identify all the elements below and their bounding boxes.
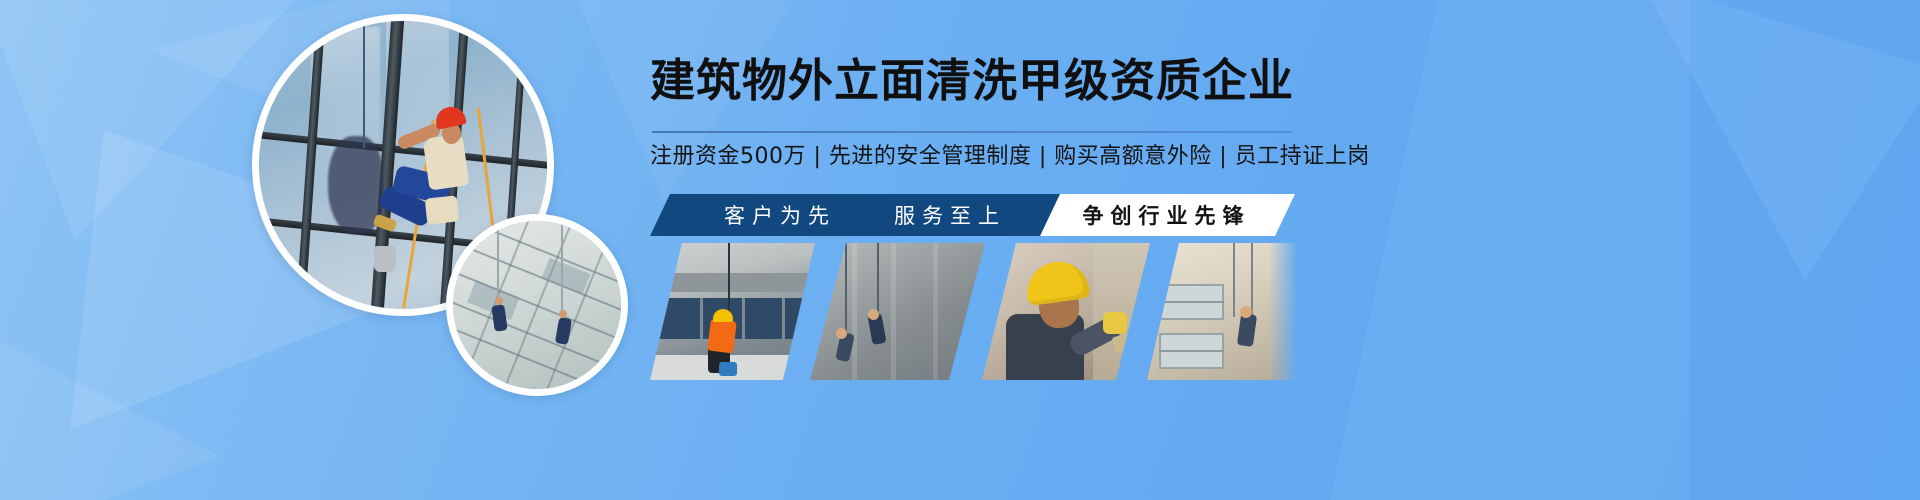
worker-rope [845, 243, 847, 339]
building-roofline [650, 273, 815, 292]
slogan-bar: 客户为先 服务至上 争创行业先锋 [650, 194, 1295, 236]
photo-panel-3 [982, 243, 1150, 380]
wall-streak [852, 243, 857, 380]
close-up-worker-scene [982, 243, 1150, 380]
paint-pail [719, 362, 737, 376]
worker-safety-vest [708, 318, 738, 353]
banner-headline: 建筑物外立面清洗甲级资质企业 [650, 52, 1295, 110]
worker-orange-vest-scene [650, 243, 815, 380]
slogan-text-1: 客户为先 [724, 200, 836, 230]
photo-strip [650, 243, 1295, 380]
triangle-shape-f [1330, 0, 1690, 500]
wall-streak [933, 243, 938, 380]
facade-worker [555, 318, 572, 346]
water-bucket [374, 246, 396, 272]
window-divider [742, 298, 745, 339]
facade-worker-head [495, 297, 503, 305]
worker-helmet-icon [1023, 258, 1090, 306]
grey-wall-workers-scene [810, 243, 985, 380]
window-divider [782, 298, 785, 339]
strip-edge-fade [1269, 243, 1295, 380]
promo-banner: 建筑物外立面清洗甲级资质企业 注册资金500万 | 先进的安全管理制度 | 购买… [0, 0, 1920, 500]
worker-helmet-icon [713, 309, 733, 322]
worker-head [868, 309, 879, 320]
photo-panel-2 [810, 243, 985, 380]
worker-glove [1103, 312, 1127, 334]
banner-subtitle: 注册资金500万 | 先进的安全管理制度 | 购买高额意外险 | 员工持证上岗 [650, 141, 1295, 173]
balcony-railing [1159, 301, 1224, 303]
photo-panel-1 [650, 243, 815, 380]
slogan-panel-dark: 客户为先 服务至上 [650, 194, 1080, 236]
headline-divider [652, 131, 1292, 133]
facade-rope [497, 221, 499, 302]
slogan-text-2: 服务至上 [894, 200, 1006, 230]
worker-body [1237, 313, 1257, 347]
slogan-text-3: 争创行业先锋 [1077, 200, 1251, 230]
slogan-panel-light: 争创行业先锋 [1032, 194, 1295, 236]
worker-seat-harness [425, 195, 460, 224]
banner-content: 建筑物外立面清洗甲级资质企业 注册资金500万 | 先进的安全管理制度 | 购买… [650, 0, 1310, 500]
wall-streak [891, 243, 896, 380]
building-facade-scene [453, 221, 621, 389]
balcony-railing [1159, 350, 1224, 352]
guide-rope [363, 21, 365, 148]
worker-rope [1233, 243, 1235, 317]
facade-rope [561, 221, 563, 315]
window-divider [700, 298, 703, 339]
worker-rope [877, 243, 879, 320]
circle-photo-facade-workers [446, 214, 628, 396]
facade-worker-head [559, 310, 567, 318]
